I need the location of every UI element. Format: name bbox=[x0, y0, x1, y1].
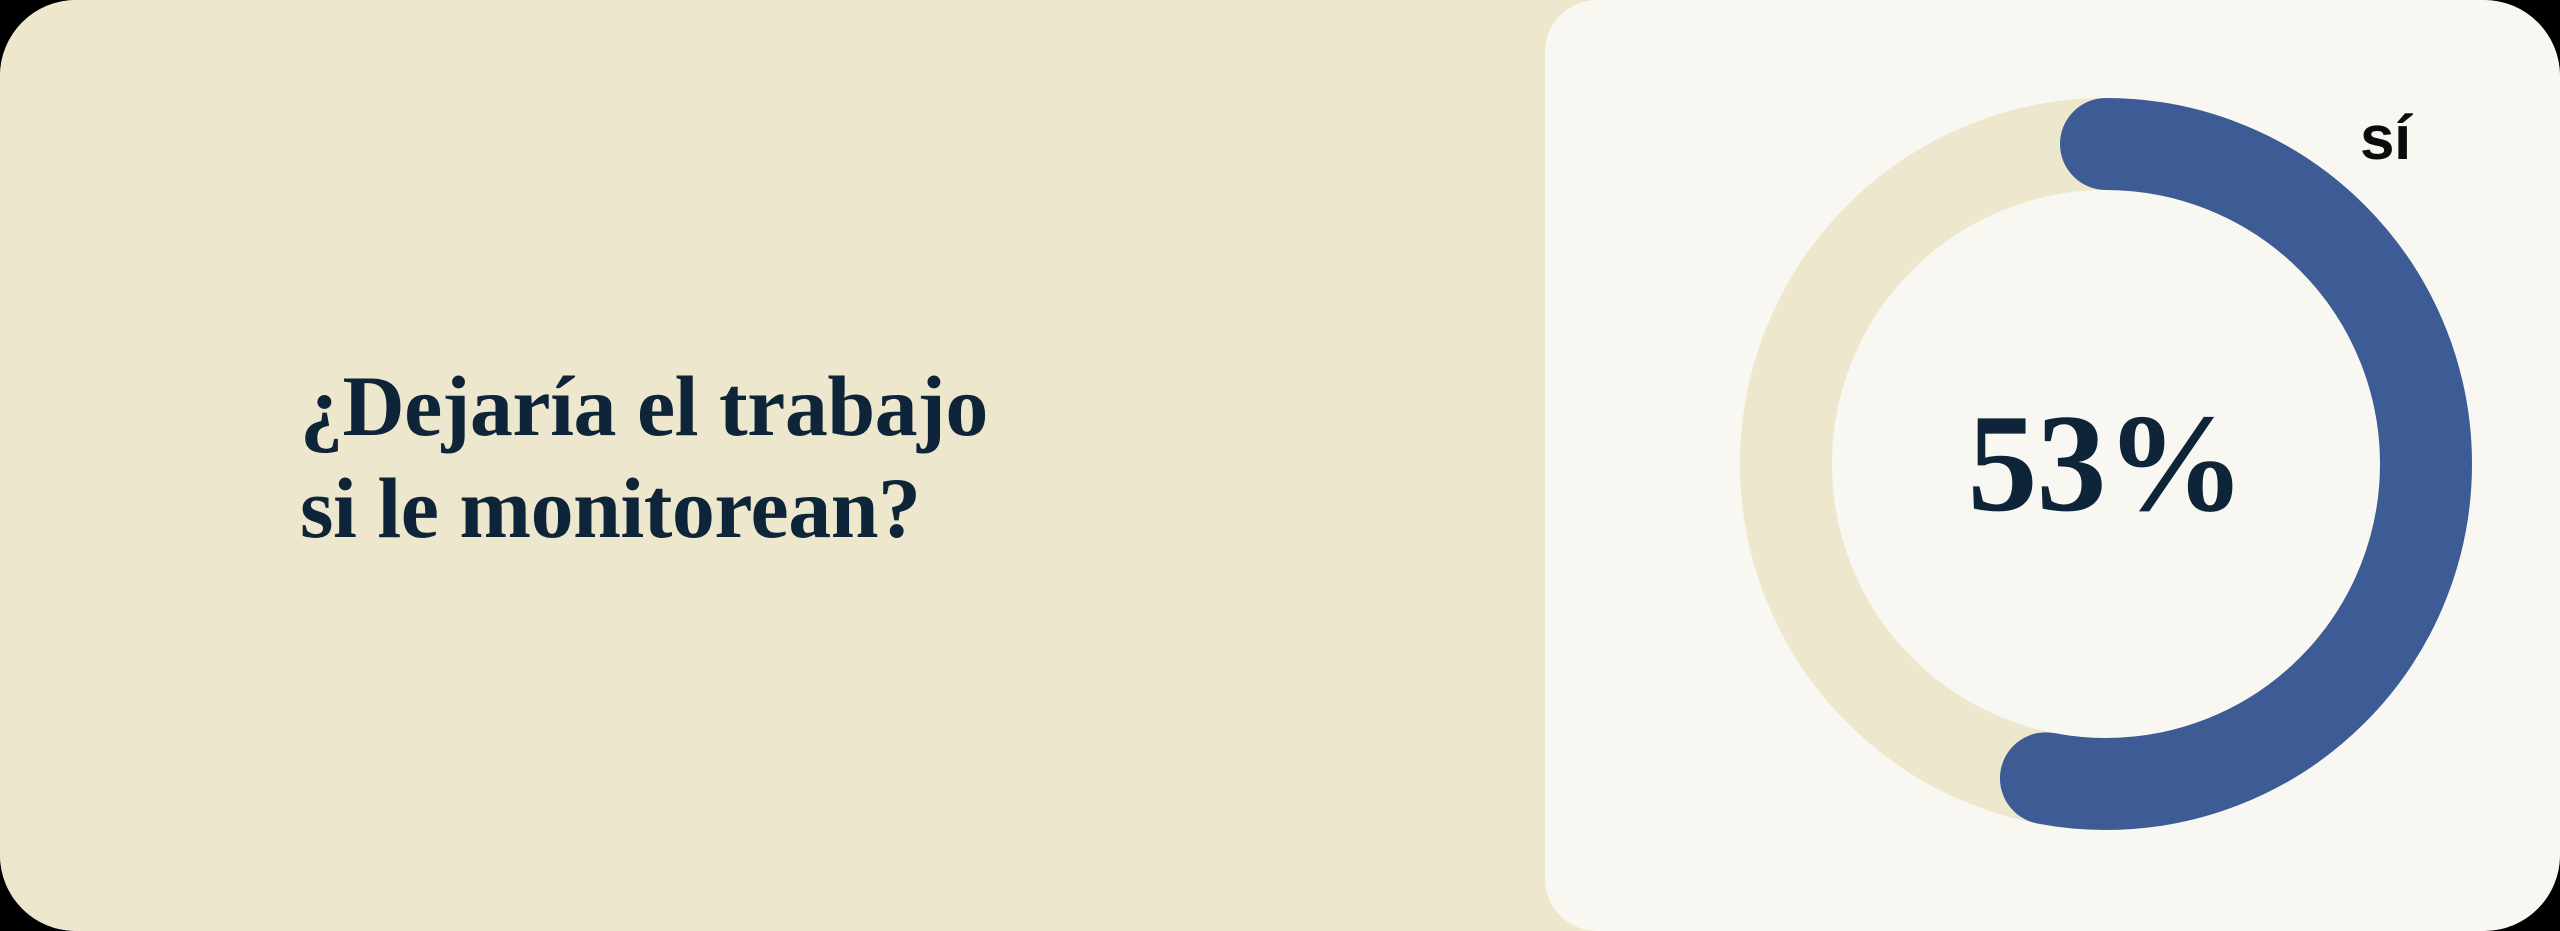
donut-chart: 53% bbox=[1740, 98, 2472, 830]
page-title: ¿Dejaría el trabajo si le monitorean? bbox=[0, 356, 988, 559]
question-panel: ¿Dejaría el trabajo si le monitorean? bbox=[0, 0, 1560, 931]
donut-chart-svg bbox=[1740, 98, 2472, 830]
legend-label-si: sí bbox=[2360, 108, 2411, 170]
poll-card: ¿Dejaría el trabajo si le monitorean? 53… bbox=[0, 0, 2560, 931]
